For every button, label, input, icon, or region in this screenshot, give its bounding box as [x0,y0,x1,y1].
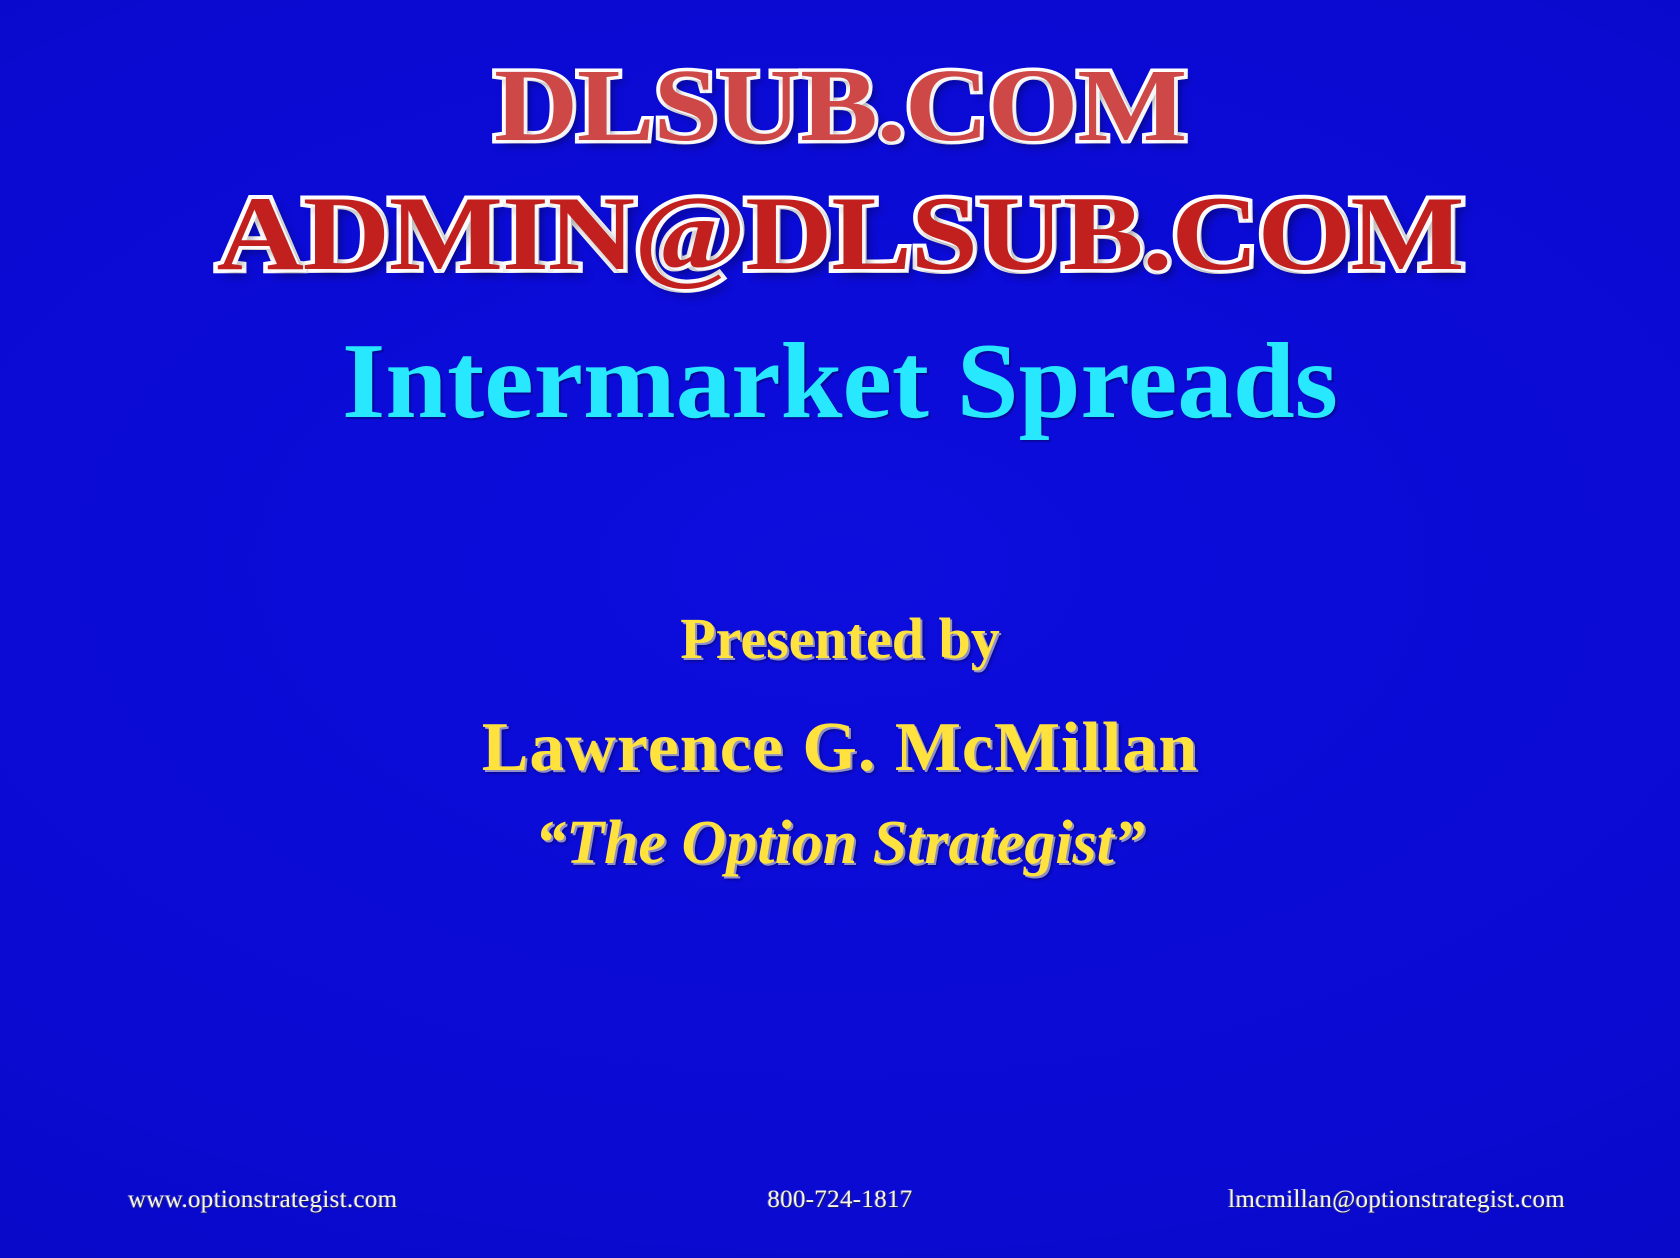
slide-title: Intermarket Spreads [0,322,1680,443]
watermark-site-text: DLSUB.COM [0,54,1680,158]
slide-footer: www.optionstrategist.com 800-724-1817 lm… [0,1186,1680,1220]
presentation-slide: DLSUB.COM ADMIN@DLSUB.COM Intermarket Sp… [0,0,1680,1258]
presenter-tagline: “The Option Strategist” [0,808,1680,879]
presenter-name: Lawrence G. McMillan [0,708,1680,788]
presented-by-label: Presented by [0,605,1680,672]
footer-email: lmcmillan@optionstrategist.com [1228,1186,1565,1214]
watermark-email-text: ADMIN@DLSUB.COM [0,181,1680,287]
